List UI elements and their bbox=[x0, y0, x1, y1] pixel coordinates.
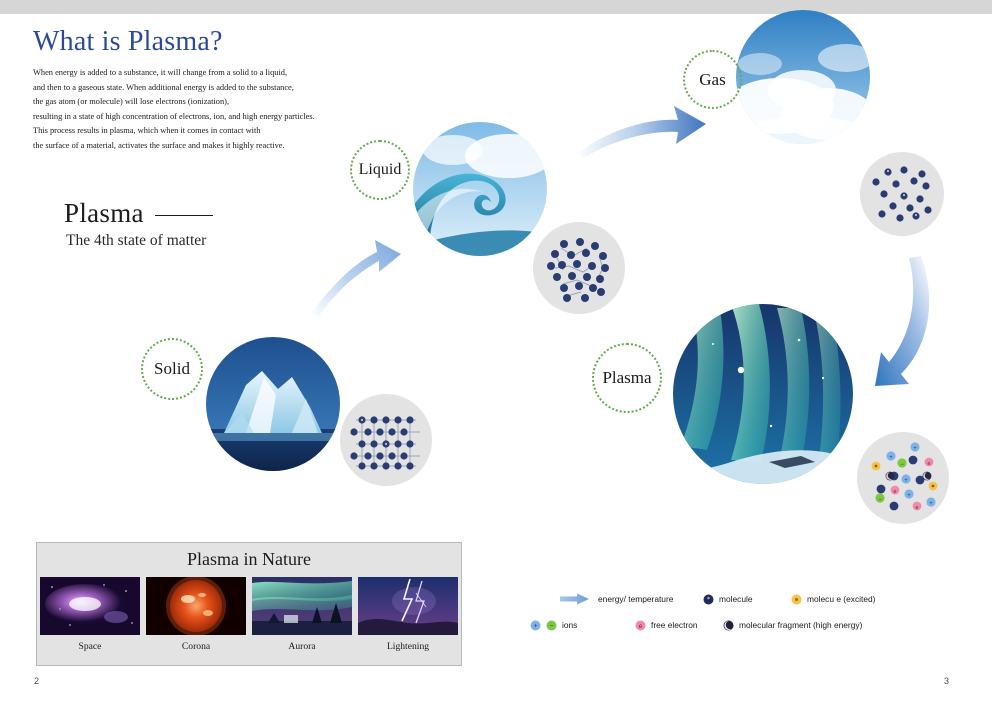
solar-corona-photo bbox=[146, 577, 246, 635]
nature-item-caption: Aurora bbox=[252, 641, 352, 652]
legend-item-ions: + − ions bbox=[530, 620, 635, 631]
legend-item-energy-temperature bbox=[560, 593, 598, 605]
legend-text: molecu e (excited) bbox=[807, 594, 875, 604]
intro-paragraph: When energy is added to a substance, it … bbox=[33, 66, 373, 154]
legend-item-excited-molecule: molecu e (excited) bbox=[791, 594, 875, 605]
page-number-right: 3 bbox=[944, 676, 949, 686]
state-label-solid: Solid bbox=[141, 338, 203, 400]
legend-row-2: + − ions e free electron molecular fragm… bbox=[560, 612, 970, 638]
legend: energy/ temperature molecule molecu e (e… bbox=[560, 586, 970, 638]
nature-item-caption: Lightening bbox=[358, 641, 458, 652]
intro-line: When energy is added to a substance, it … bbox=[33, 66, 373, 81]
page-number-left: 2 bbox=[34, 676, 39, 686]
solid-photo-iceberg bbox=[206, 337, 340, 471]
negative-ion-icon: − bbox=[546, 620, 557, 631]
svg-text:e: e bbox=[639, 623, 643, 630]
svg-text:e: e bbox=[894, 489, 897, 495]
plasma-photo-aurora bbox=[673, 304, 853, 484]
free-electron-icon: e bbox=[635, 620, 646, 631]
legend-text: molecule bbox=[719, 594, 753, 604]
top-gray-bar bbox=[0, 0, 992, 14]
molecule-icon bbox=[703, 594, 714, 605]
page-title: What is Plasma? bbox=[33, 26, 223, 58]
solid-molecule-lattice-diagram bbox=[340, 394, 432, 486]
wordmark-rule bbox=[155, 215, 213, 216]
svg-text:−: − bbox=[878, 497, 882, 503]
legend-text: molecular fragment (high energy) bbox=[739, 620, 862, 630]
liquid-to-gas-arrow bbox=[572, 100, 712, 172]
gas-photo-clouds-sky bbox=[736, 10, 870, 144]
excited-molecule-icon bbox=[791, 594, 802, 605]
intro-line: resulting in a state of high concentrati… bbox=[33, 110, 373, 125]
legend-text: free electron bbox=[651, 620, 698, 630]
intro-line: the gas atom (or molecule) will lose ele… bbox=[33, 95, 373, 110]
svg-text:−: − bbox=[900, 462, 904, 468]
plasma-in-nature-gallery: SpaceCoronaAuroraLightening bbox=[42, 577, 456, 652]
legend-text: energy/ temperature bbox=[598, 594, 673, 604]
plasma-wordmark: Plasma bbox=[64, 198, 144, 229]
gas-to-plasma-arrow bbox=[853, 248, 968, 393]
aurora-photo bbox=[252, 577, 352, 635]
legend-item-molecule: molecule bbox=[703, 594, 791, 605]
state-label-plasma: Plasma bbox=[592, 343, 662, 413]
nature-item-caption: Space bbox=[40, 641, 140, 652]
liquid-photo-ocean-wave bbox=[413, 122, 547, 256]
nature-item: Corona bbox=[146, 577, 246, 652]
legend-item-molecular-fragment: molecular fragment (high energy) bbox=[723, 620, 862, 631]
intro-line: This process results in plasma, which wh… bbox=[33, 124, 373, 139]
nature-item: Space bbox=[40, 577, 140, 652]
svg-text:−: − bbox=[549, 623, 553, 630]
solid-to-liquid-arrow bbox=[305, 228, 415, 320]
legend-item-free-electron: e free electron bbox=[635, 620, 723, 631]
plasma-subtitle: The 4th state of matter bbox=[66, 232, 206, 250]
svg-text:+: + bbox=[533, 623, 537, 630]
nature-item: Aurora bbox=[252, 577, 352, 652]
energy-arrow-icon bbox=[560, 593, 590, 605]
nature-item: Lightening bbox=[358, 577, 458, 652]
lightning-photo bbox=[358, 577, 458, 635]
nature-item-caption: Corona bbox=[146, 641, 246, 652]
intro-line: and then to a gaseous state. When additi… bbox=[33, 81, 373, 96]
svg-text:e: e bbox=[916, 505, 919, 511]
gas-molecule-cluster-diagram bbox=[860, 152, 944, 236]
svg-text:e: e bbox=[928, 461, 931, 467]
plasma-particle-cluster-diagram: + + + + + − − e e e bbox=[857, 432, 949, 524]
liquid-molecule-cluster-diagram bbox=[533, 222, 625, 314]
plasma-in-nature-title: Plasma in Nature bbox=[37, 549, 461, 570]
intro-line: the surface of a material, activates the… bbox=[33, 139, 373, 154]
galaxy-photo bbox=[40, 577, 140, 635]
svg-text:+: + bbox=[889, 455, 893, 461]
legend-label-energy-temperature: energy/ temperature bbox=[598, 594, 703, 604]
svg-text:+: + bbox=[929, 501, 933, 507]
molecular-fragment-icon bbox=[723, 620, 734, 631]
state-label-liquid: Liquid bbox=[350, 140, 410, 200]
legend-row-1: energy/ temperature molecule molecu e (e… bbox=[560, 586, 970, 612]
legend-text: ions bbox=[562, 620, 577, 630]
svg-text:+: + bbox=[904, 478, 908, 484]
svg-text:+: + bbox=[913, 446, 917, 452]
positive-ion-icon: + bbox=[530, 620, 541, 631]
svg-text:+: + bbox=[907, 493, 911, 499]
plasma-in-nature-panel: Plasma in Nature SpaceCoronaAuroraLighte… bbox=[36, 542, 462, 666]
